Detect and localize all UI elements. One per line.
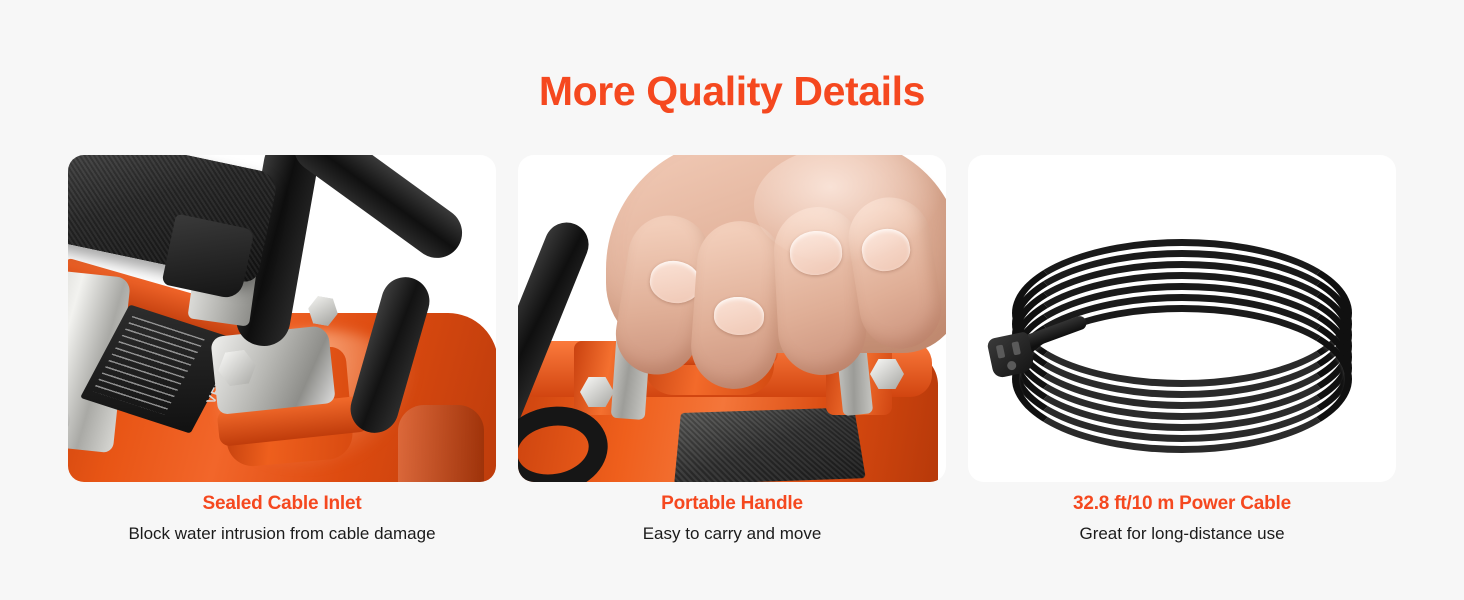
rubber-pad-lip-shape bbox=[161, 213, 254, 300]
feature-card-sealed-cable-inlet[interactable]: VEVOR Sealed Cable Inlet Block water int… bbox=[68, 155, 496, 550]
product-photo-portable-handle bbox=[518, 155, 946, 482]
cable-coil bbox=[1012, 239, 1352, 399]
feature-card-power-cable[interactable]: 32.8 ft/10 m Power Cable Great for long-… bbox=[968, 155, 1396, 550]
caption-portable-handle: Portable Handle Easy to carry and move bbox=[518, 491, 946, 547]
caption-power-cable: 32.8 ft/10 m Power Cable Great for long-… bbox=[968, 491, 1396, 547]
caption-subtitle: Great for long-distance use bbox=[968, 521, 1396, 547]
product-feature-page: More Quality Details VEVOR bbox=[0, 0, 1464, 600]
nameplate-panel bbox=[674, 407, 866, 482]
plug-prong-right bbox=[1011, 341, 1021, 355]
power-cable-bend-segment bbox=[284, 155, 472, 268]
caption-subtitle: Easy to carry and move bbox=[518, 521, 946, 547]
feature-card-portable-handle[interactable]: Portable Handle Easy to carry and move bbox=[518, 155, 946, 550]
product-photo-power-cable bbox=[968, 155, 1396, 482]
product-photo-sealed-cable-inlet: VEVOR bbox=[68, 155, 496, 482]
caption-title: 32.8 ft/10 m Power Cable bbox=[968, 491, 1396, 516]
plug-prong-ground bbox=[1006, 360, 1017, 371]
feature-card-row: VEVOR Sealed Cable Inlet Block water int… bbox=[68, 155, 1396, 550]
caption-sealed-cable-inlet: Sealed Cable Inlet Block water intrusion… bbox=[68, 491, 496, 547]
caption-title: Portable Handle bbox=[518, 491, 946, 516]
caption-subtitle: Block water intrusion from cable damage bbox=[68, 521, 496, 547]
caption-title: Sealed Cable Inlet bbox=[68, 491, 496, 516]
plug-prong-left bbox=[996, 344, 1006, 358]
pump-body-seam bbox=[398, 405, 484, 482]
page-title: More Quality Details bbox=[0, 66, 1464, 116]
